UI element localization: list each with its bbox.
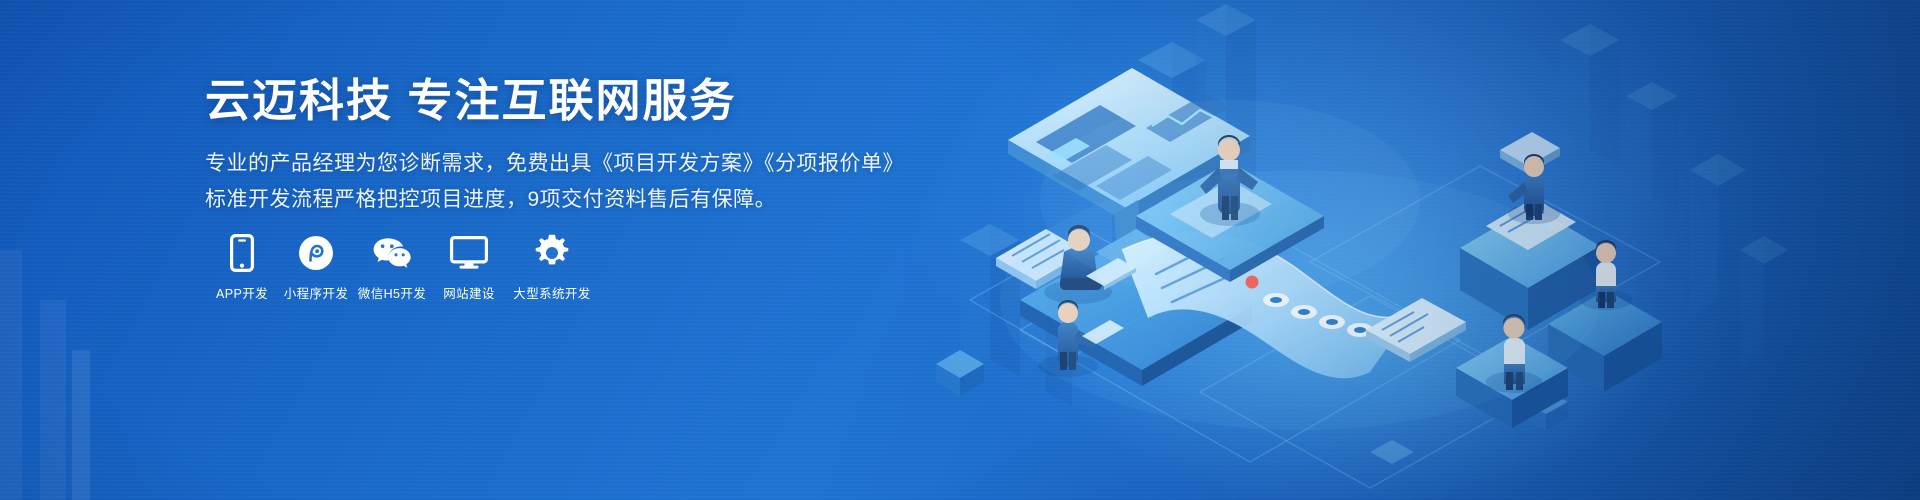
service-label: 网站建设 [443,288,495,301]
service-label: 微信H5开发 [358,288,426,301]
gear-icon [531,232,573,274]
wechat-icon [371,232,413,274]
decor-pillar [40,300,66,500]
service-label: 大型系统开发 [513,288,590,301]
subtitle-line-2: 标准开发流程严格把控项目进度，9项交付资料售后有保障。 [205,183,965,217]
service-label: 小程序开发 [284,288,349,301]
decor-pillar [0,250,22,500]
service-item-app[interactable]: APP开发 [205,232,279,301]
service-item-miniprogram[interactable]: 小程序开发 [279,232,353,301]
hero-text-block: 云迈科技 专注互联网服务 专业的产品经理为您诊断需求，免费出具《项目开发方案》《… [205,74,965,217]
service-item-large-system[interactable]: 大型系统开发 [507,232,597,301]
hero-illustration [900,0,1920,500]
monitor-icon [448,232,490,274]
service-item-wechat-h5[interactable]: 微信H5开发 [353,232,431,301]
decor-pillar [72,350,90,500]
service-list: APP开发 小程序开发 [205,232,597,301]
smartphone-icon [221,232,263,274]
subtitle-line-1: 专业的产品经理为您诊断需求，免费出具《项目开发方案》《分项报价单》 [205,147,965,181]
mini-program-icon [295,232,337,274]
service-item-website[interactable]: 网站建设 [431,232,507,301]
isometric-scene [900,0,1920,500]
service-label: APP开发 [216,288,268,301]
hero-banner: 云迈科技 专注互联网服务 专业的产品经理为您诊断需求，免费出具《项目开发方案》《… [0,0,1920,500]
page-title: 云迈科技 专注互联网服务 [205,74,965,129]
